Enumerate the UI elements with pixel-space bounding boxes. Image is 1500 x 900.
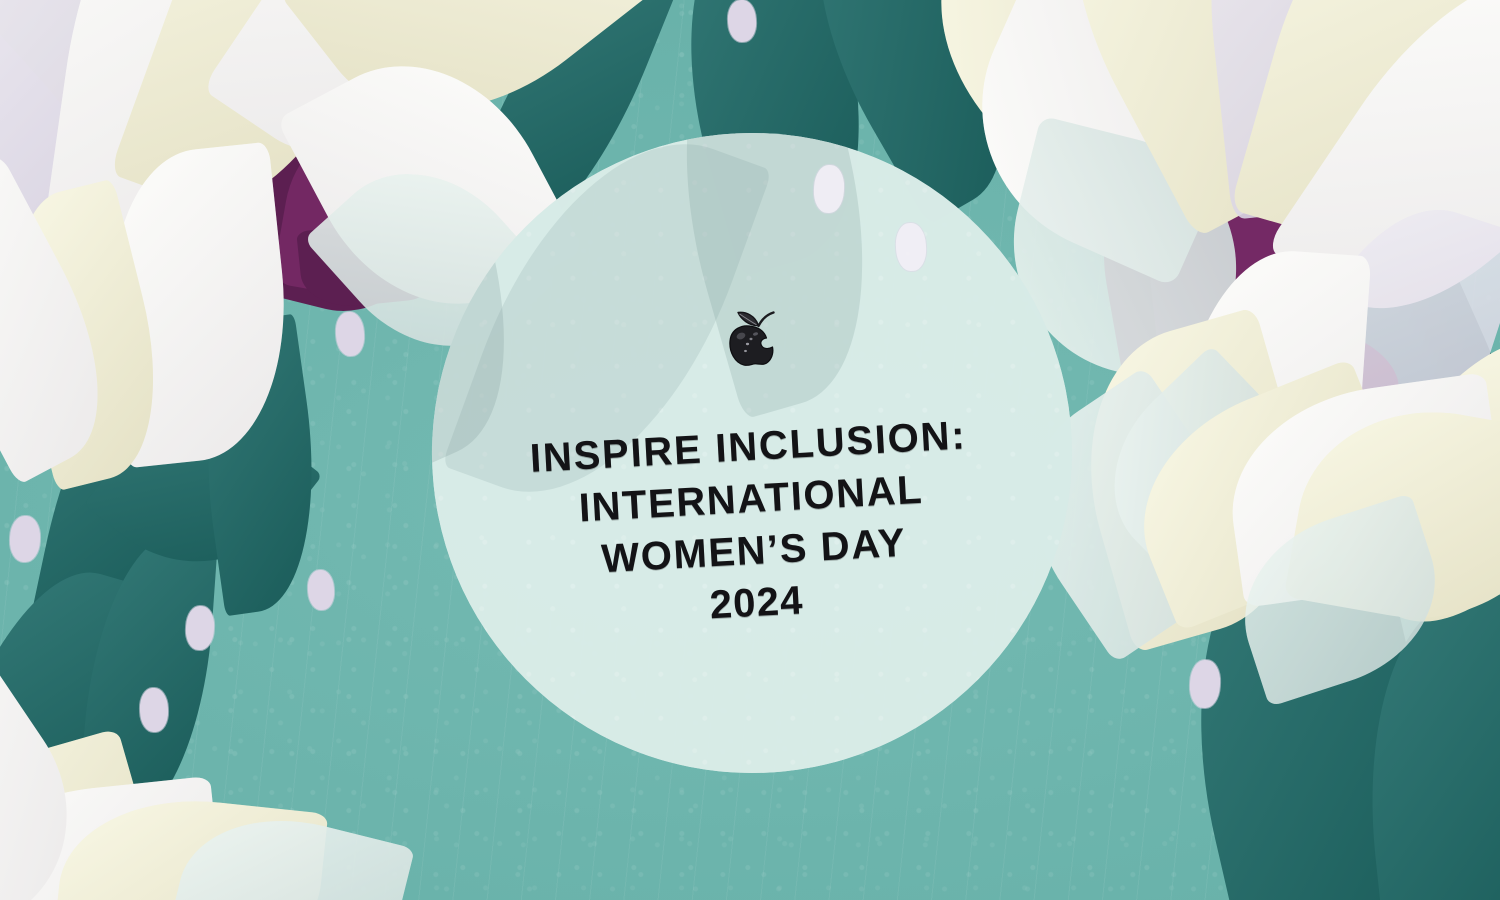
poster-canvas: Inspire Inclusion: International Women’s… [0,0,1500,900]
bitten-apple-icon [725,309,779,367]
page-title: Inspire Inclusion: International Women’s… [528,409,975,640]
headline-badge: Inspire Inclusion: International Women’s… [432,133,1072,773]
speckle-dot-5 [727,0,757,43]
speckle-dot-3 [139,688,169,733]
